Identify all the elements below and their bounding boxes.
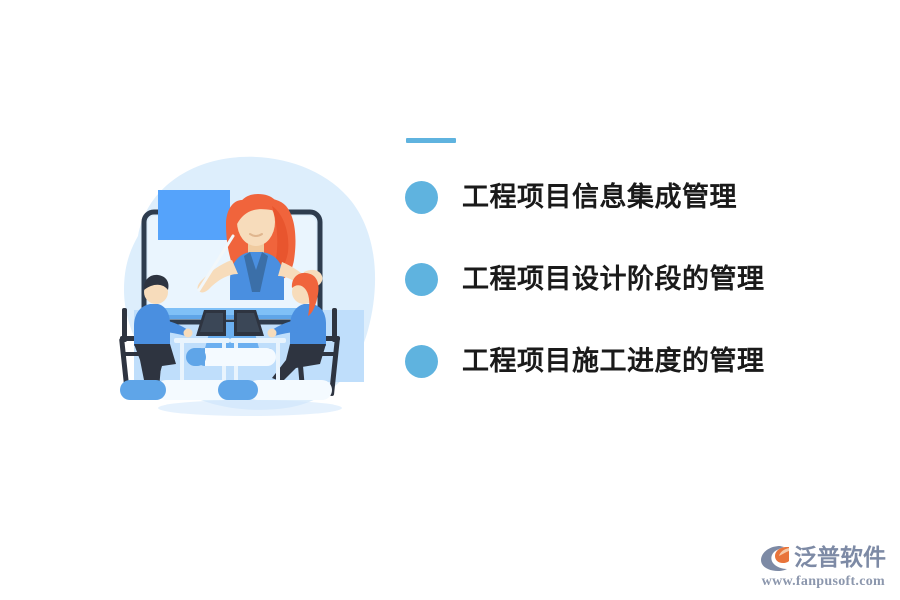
bullet-dot-icon — [405, 181, 438, 214]
watermark-logo: 泛普软件 www.fanpusoft.com — [758, 538, 886, 590]
accent-rule — [406, 138, 456, 143]
illustration-svg — [100, 140, 400, 430]
list-item[interactable]: 工程项目施工进度的管理 — [405, 333, 825, 389]
bullet-dot-icon — [405, 263, 438, 296]
bullet-content-panel: 工程项目信息集成管理 工程项目设计阶段的管理 工程项目施工进度的管理 — [405, 138, 825, 398]
bullet-label: 工程项目施工进度的管理 — [462, 348, 765, 375]
list-item[interactable]: 工程项目设计阶段的管理 — [405, 251, 825, 307]
student-right-hand — [268, 329, 277, 338]
list-item[interactable]: 工程项目信息集成管理 — [405, 169, 825, 225]
bullet-list: 工程项目信息集成管理 工程项目设计阶段的管理 工程项目施工进度的管理 — [405, 169, 825, 389]
student-left-hand — [184, 329, 193, 338]
watermark-url-text: www.fanpusoft.com — [762, 574, 885, 590]
bullet-label: 工程项目设计阶段的管理 — [462, 266, 765, 293]
bullet-label: 工程项目信息集成管理 — [462, 184, 737, 211]
watermark-brand-row: 泛普软件 — [760, 544, 886, 572]
bullet-dot-icon — [405, 345, 438, 378]
slide-canvas: 工程项目信息集成管理 工程项目设计阶段的管理 工程项目施工进度的管理 泛普软件 … — [0, 0, 900, 600]
online-classroom-illustration — [100, 140, 400, 430]
fanpu-logo-icon — [760, 544, 790, 572]
watermark-brand-text: 泛普软件 — [794, 547, 886, 570]
presentation-slide — [158, 190, 230, 240]
